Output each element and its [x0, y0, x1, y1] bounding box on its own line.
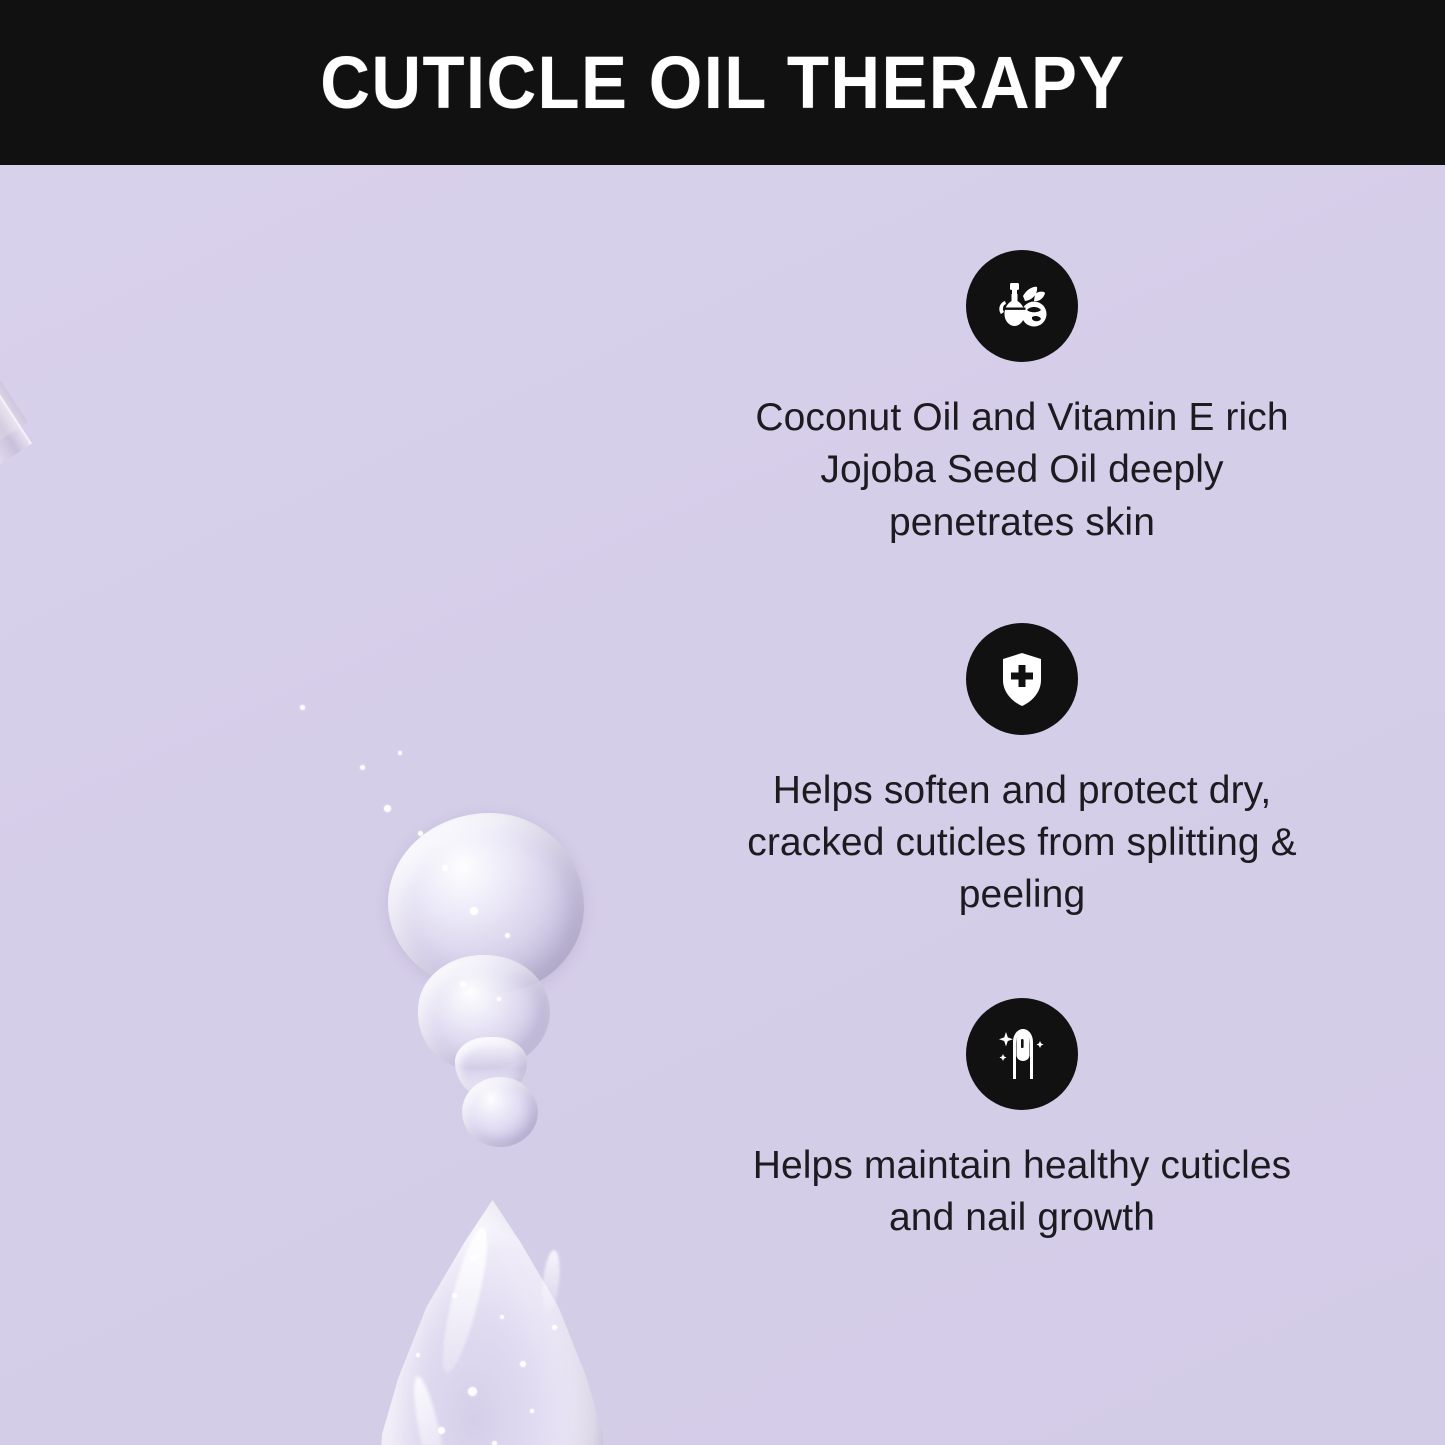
micro-bubble — [416, 1353, 420, 1357]
benefit-item: Coconut Oil and Vitamin E rich Jojoba Se… — [722, 250, 1322, 549]
micro-bubble — [505, 933, 510, 938]
product-photo — [0, 165, 760, 1445]
header-banner: CUTICLE OIL THERAPY — [0, 0, 1445, 165]
micro-bubble — [442, 865, 448, 871]
micro-bubble — [552, 1325, 557, 1330]
micro-bubble — [418, 831, 423, 836]
oil-pendant-drop — [462, 1077, 538, 1147]
micro-bubble — [438, 1427, 445, 1434]
micro-bubble — [384, 805, 391, 812]
benefit-item: Helps maintain healthy cuticles and nail… — [722, 998, 1322, 1245]
droplet-highlight — [540, 1249, 563, 1314]
oil-bottle-leaves-coconut-icon — [966, 250, 1078, 362]
benefits-list: Coconut Oil and Vitamin E rich Jojoba Se… — [722, 250, 1322, 1390]
micro-bubble — [497, 997, 501, 1001]
micro-bubble — [470, 1255, 476, 1261]
micro-bubble — [460, 981, 466, 987]
micro-bubble — [452, 1293, 457, 1298]
falling-oil-droplet — [375, 1200, 610, 1445]
micro-bubble — [360, 765, 365, 770]
benefit-text: Coconut Oil and Vitamin E rich Jojoba Se… — [742, 392, 1302, 549]
shield-plus-icon — [966, 623, 1078, 735]
micro-bubble — [398, 751, 402, 755]
micro-bubble — [500, 1315, 504, 1319]
micro-bubble — [300, 705, 305, 710]
benefit-text: Helps maintain healthy cuticles and nail… — [742, 1140, 1302, 1245]
page-title: CUTICLE OIL THERAPY — [320, 46, 1125, 120]
micro-bubble — [468, 1387, 477, 1396]
micro-bubble — [520, 1361, 526, 1367]
micro-bubble — [530, 1409, 534, 1413]
micro-bubble — [470, 907, 478, 915]
benefit-item: Helps soften and protect dry, cracked cu… — [722, 623, 1322, 922]
benefit-text: Helps soften and protect dry, cracked cu… — [742, 765, 1302, 922]
sparkling-fingernail-icon — [966, 998, 1078, 1110]
product-feature-image: CUTICLE OIL THERAPY — [0, 0, 1445, 1445]
dropper-pipette — [0, 165, 126, 737]
dropper-glass-barrel — [0, 165, 32, 598]
dropper-tube — [0, 165, 28, 586]
micro-bubble — [492, 1441, 497, 1445]
